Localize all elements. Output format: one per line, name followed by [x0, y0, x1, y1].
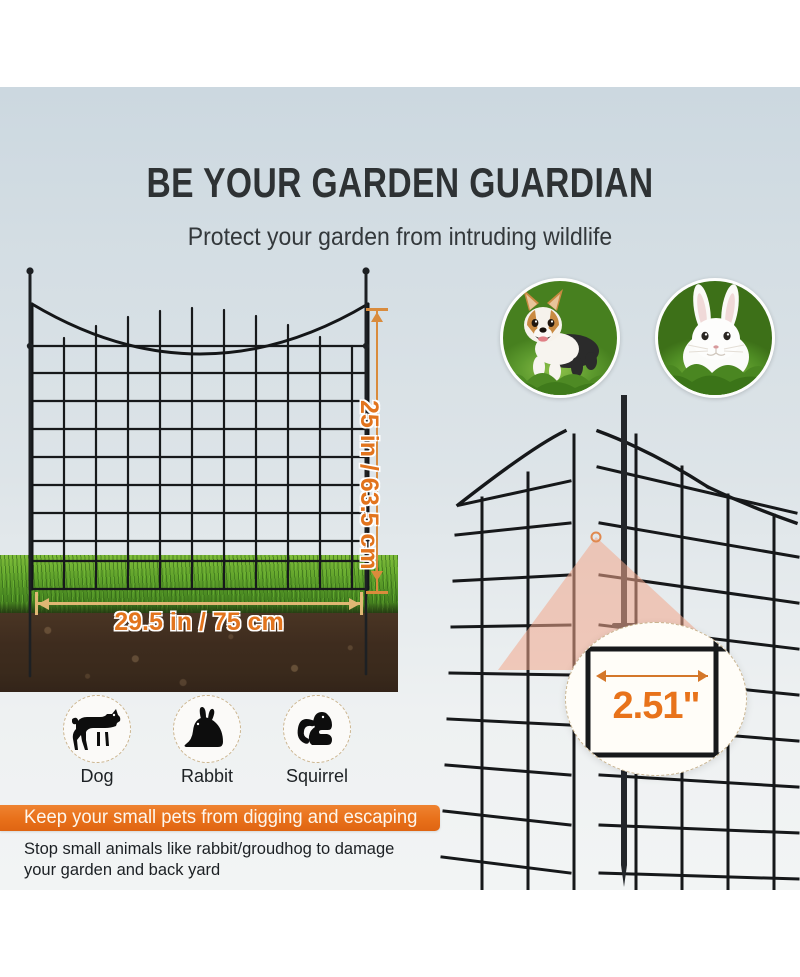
description-text: Stop small animals like rabbit/groudhog … — [24, 838, 424, 880]
mesh-size-label: 2.51" — [566, 685, 746, 728]
height-dimension-cap-top — [366, 308, 388, 311]
animal-item-dog: Dog — [42, 695, 152, 787]
page-title: BE YOUR GARDEN GUARDIAN — [80, 160, 720, 206]
rabbit-photo — [655, 278, 775, 398]
infographic-root: BE YOUR GARDEN GUARDIAN Protect your gar… — [0, 0, 800, 977]
dog-silhouette-icon — [63, 695, 131, 763]
animal-icon-row: Dog Rabbit Squirrel — [0, 695, 440, 795]
description-line-2: your garden and back yard — [24, 859, 412, 880]
description-line-1: Stop small animals like rabbit/groudhog … — [24, 838, 412, 859]
dog-photo — [500, 278, 620, 398]
animal-label: Rabbit — [152, 766, 262, 787]
mesh-arrow-line — [604, 675, 708, 677]
banner-text: Keep your small pets from digging and es… — [24, 807, 417, 829]
animal-label: Dog — [42, 766, 152, 787]
height-arrow-up-icon — [371, 312, 383, 322]
height-dimension-cap-bottom — [366, 591, 388, 594]
animal-item-rabbit: Rabbit — [152, 695, 262, 787]
mesh-arrow-left-icon — [596, 670, 606, 682]
page-subtitle: Protect your garden from intruding wildl… — [32, 222, 768, 252]
height-label: 25 in / 63.5 cm — [354, 400, 383, 570]
mesh-arrow-right-icon — [698, 670, 708, 682]
height-arrow-down-icon — [371, 571, 383, 581]
mesh-size-magnifier: 2.51" — [565, 622, 747, 776]
width-label: 29.5 in / 75 cm — [0, 608, 398, 637]
rabbit-silhouette-icon — [173, 695, 241, 763]
animal-item-squirrel: Squirrel — [262, 695, 372, 787]
animal-label: Squirrel — [262, 766, 372, 787]
squirrel-silhouette-icon — [283, 695, 351, 763]
highlight-banner: Keep your small pets from digging and es… — [0, 805, 440, 831]
